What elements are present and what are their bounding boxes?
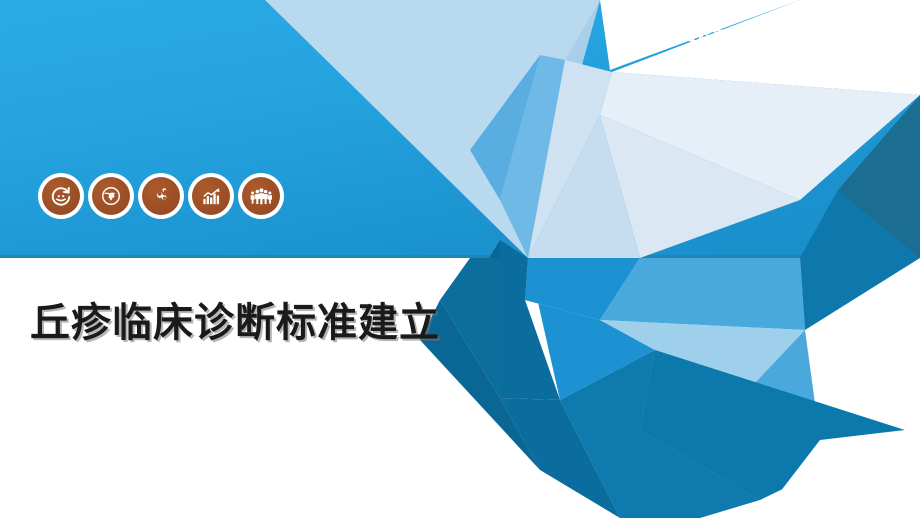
icon-badge-team[interactable] [238, 173, 284, 219]
icon-row [38, 173, 284, 219]
presentation-slide: 数智创新 变革未来 [0, 0, 920, 518]
icon-badge-chart[interactable] [188, 173, 234, 219]
globe-icon [92, 177, 130, 215]
low-poly-artwork [0, 0, 920, 518]
icon-badge-globe[interactable] [88, 173, 134, 219]
page-title: 丘疹临床诊断标准建立 [30, 300, 440, 346]
icon-badge-refresh[interactable] [38, 173, 84, 219]
refresh-arrow-icon [42, 177, 80, 215]
gears-icon [142, 177, 180, 215]
tagline-text: 数智创新 变革未来 [688, 28, 896, 51]
bar-chart-icon [192, 177, 230, 215]
team-people-icon [242, 177, 280, 215]
icon-badge-gears[interactable] [138, 173, 184, 219]
